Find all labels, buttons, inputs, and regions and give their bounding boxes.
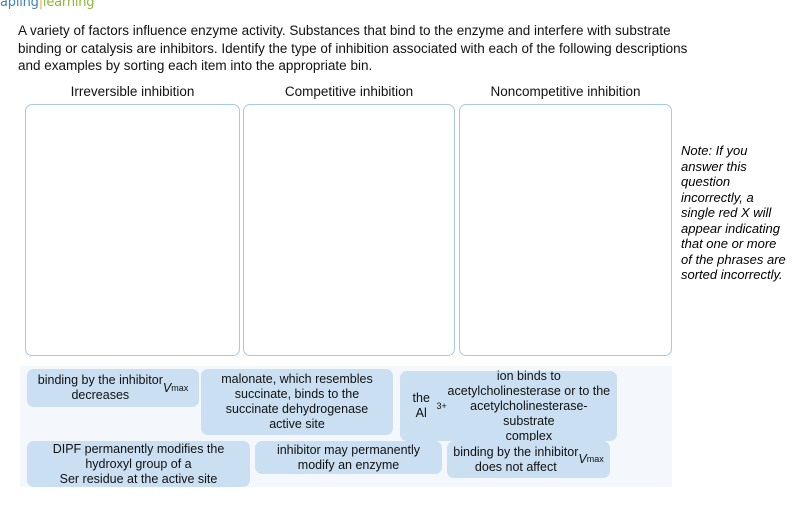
draggable-tile[interactable]: malonate, which resemblessuccinate, bind…	[201, 369, 393, 435]
bin-label-competitive: Competitive inhibition	[243, 84, 455, 99]
question-instructions: A variety of factors influence enzyme ac…	[18, 22, 698, 75]
draggable-tile[interactable]: binding by the inhibitordecreases Vmax	[27, 369, 199, 407]
draggable-tile[interactable]: DIPF permanently modifies thehydroxyl gr…	[27, 441, 250, 487]
draggable-tile[interactable]: the Al3+ ion binds toacetylcholinesteras…	[400, 371, 617, 441]
drop-bin-noncompetitive[interactable]	[459, 104, 672, 356]
site-logo: apling|learning	[0, 0, 794, 12]
bin-label-irreversible: Irreversible inhibition	[25, 84, 240, 99]
logo-text-primary: apling	[0, 0, 39, 10]
draggable-tile[interactable]: inhibitor may permanentlymodify an enzym…	[255, 441, 442, 474]
draggable-tile[interactable]: binding by the inhibitordoes not affect …	[447, 441, 610, 478]
logo-wordmark: apling|learning	[0, 0, 94, 10]
drop-bin-competitive[interactable]	[243, 104, 455, 356]
grading-note: Note: If you answer this question incorr…	[681, 143, 789, 283]
bin-label-noncompetitive: Noncompetitive inhibition	[459, 84, 672, 99]
drop-bin-irreversible[interactable]	[25, 104, 240, 356]
logo-text-secondary: learning	[43, 0, 94, 10]
